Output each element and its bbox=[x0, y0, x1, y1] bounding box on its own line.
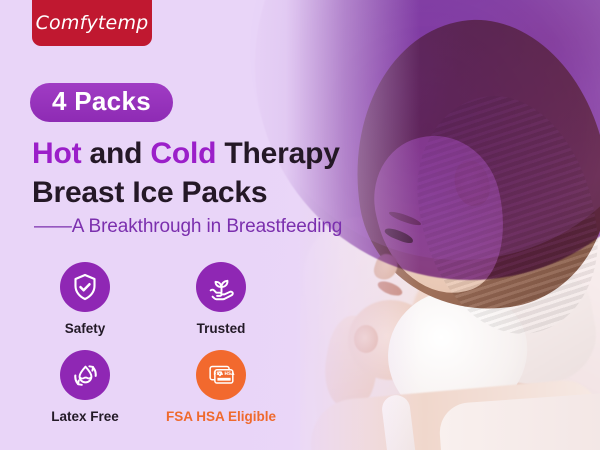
feature-item-trusted: Trusted bbox=[172, 262, 270, 336]
headline-line-2: Breast Ice Packs bbox=[32, 173, 340, 212]
subtitle: ——A Breakthrough in Breastfeeding bbox=[34, 216, 342, 238]
page-title: Hot and Cold Therapy Breast Ice Packs bbox=[32, 134, 340, 212]
feature-label-trusted: Trusted bbox=[197, 321, 246, 336]
headline-and: and bbox=[81, 137, 150, 170]
product-banner: Comfytemp 4 Packs Hot and Cold Therapy B… bbox=[0, 0, 600, 450]
latex-free-droplet-icon bbox=[60, 350, 110, 400]
headline-line-1: Hot and Cold Therapy bbox=[32, 137, 340, 170]
feature-row-1: Safety Trusted bbox=[36, 262, 296, 336]
shield-check-icon bbox=[60, 262, 110, 312]
feature-label-safety: Safety bbox=[65, 321, 106, 336]
hand-plant-icon bbox=[196, 262, 246, 312]
feature-label-fsa-hsa: FSA HSA Eligible bbox=[166, 409, 276, 424]
brand-logo[interactable]: Comfytemp bbox=[32, 0, 152, 46]
feature-item-fsa-hsa: FSA HSA FSA HSA Eligible bbox=[172, 350, 270, 424]
feature-label-latex-free: Latex Free bbox=[51, 409, 119, 424]
fsa-card-text: FSA HSA bbox=[214, 371, 236, 377]
feature-item-safety: Safety bbox=[36, 262, 134, 336]
feature-item-latex-free: Latex Free bbox=[36, 350, 134, 424]
headline-hot: Hot bbox=[32, 137, 81, 170]
feature-list: Safety Trusted bbox=[36, 262, 296, 424]
feature-row-2: Latex Free FSA HSA FSA HSA Eligible bbox=[36, 350, 296, 424]
headline-cold: Cold bbox=[150, 137, 216, 170]
headline-therapy: Therapy bbox=[216, 137, 339, 170]
brand-logo-text: Comfytemp bbox=[36, 12, 149, 34]
baby-ear bbox=[354, 325, 378, 353]
fsa-hsa-card-icon: FSA HSA bbox=[196, 350, 246, 400]
pack-count-badge: 4 Packs bbox=[30, 83, 173, 122]
